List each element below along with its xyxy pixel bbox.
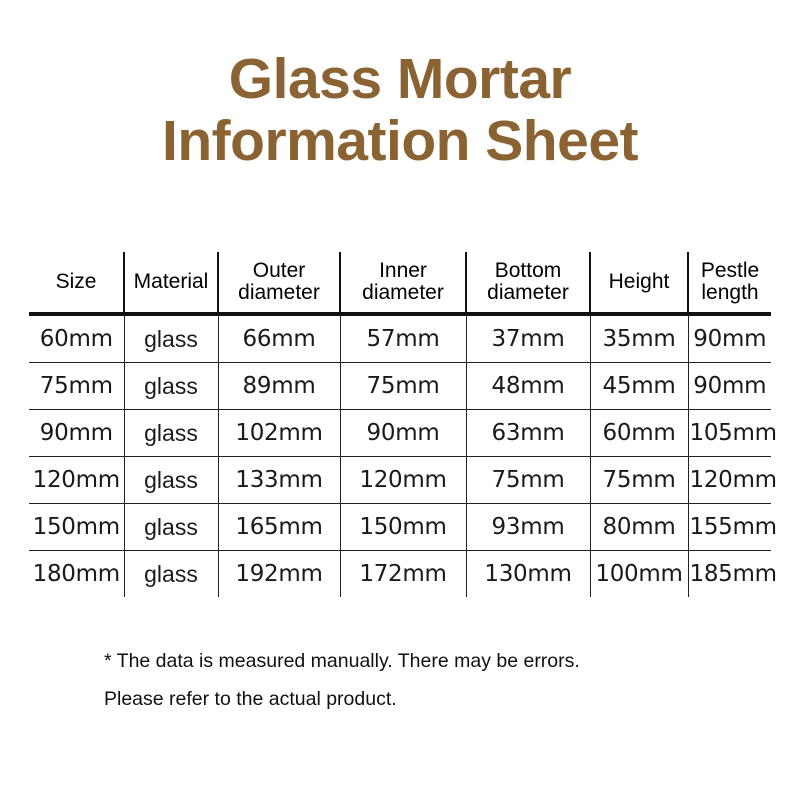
column-header-inner-diameter-line2: diameter	[343, 282, 463, 304]
cell-size: 75mm	[29, 363, 124, 410]
column-header-bottom-diameter-line1: Bottom	[469, 260, 587, 282]
column-header-outer-diameter: Outer diameter	[218, 252, 340, 314]
cell-height: 75mm	[590, 457, 688, 504]
column-header-outer-diameter-line1: Outer	[221, 260, 337, 282]
cell-height: 100mm	[590, 551, 688, 598]
column-header-inner-diameter: Inner diameter	[340, 252, 466, 314]
table-header-row: Size Material Outer diameter Inner diame…	[29, 252, 771, 314]
cell-outer: 133mm	[218, 457, 340, 504]
cell-bottom: 93mm	[466, 504, 590, 551]
cell-height: 60mm	[590, 410, 688, 457]
cell-size: 180mm	[29, 551, 124, 598]
table-header: Size Material Outer diameter Inner diame…	[29, 252, 771, 314]
cell-size: 60mm	[29, 314, 124, 363]
cell-outer: 66mm	[218, 314, 340, 363]
specification-table-container: Size Material Outer diameter Inner diame…	[29, 252, 771, 597]
column-header-pestle-length-line1: Pestle	[691, 260, 769, 282]
cell-material: glass	[124, 457, 218, 504]
table-row: 150mm glass 165mm 150mm 93mm 80mm 155mm	[29, 504, 771, 551]
column-header-height-line1: Height	[593, 271, 685, 293]
cell-height: 35mm	[590, 314, 688, 363]
column-header-pestle-length: Pestle length	[688, 252, 771, 314]
table-row: 60mm glass 66mm 57mm 37mm 35mm 90mm	[29, 314, 771, 363]
cell-bottom: 48mm	[466, 363, 590, 410]
page-title: Glass Mortar Information Sheet	[0, 48, 800, 172]
column-header-inner-diameter-line1: Inner	[343, 260, 463, 282]
cell-pestle: 90mm	[688, 314, 771, 363]
cell-bottom: 75mm	[466, 457, 590, 504]
cell-pestle: 90mm	[688, 363, 771, 410]
specification-table: Size Material Outer diameter Inner diame…	[29, 252, 771, 597]
cell-size: 120mm	[29, 457, 124, 504]
cell-height: 80mm	[590, 504, 688, 551]
column-header-height: Height	[590, 252, 688, 314]
cell-bottom: 63mm	[466, 410, 590, 457]
cell-material: glass	[124, 363, 218, 410]
cell-inner: 57mm	[340, 314, 466, 363]
cell-pestle: 155mm	[688, 504, 771, 551]
product-info-sheet: Glass Mortar Information Sheet Size	[0, 0, 800, 800]
cell-outer: 165mm	[218, 504, 340, 551]
column-header-material-line1: Material	[127, 271, 215, 293]
table-row: 90mm glass 102mm 90mm 63mm 60mm 105mm	[29, 410, 771, 457]
cell-outer: 102mm	[218, 410, 340, 457]
column-header-material: Material	[124, 252, 218, 314]
table-row: 75mm glass 89mm 75mm 48mm 45mm 90mm	[29, 363, 771, 410]
table-row: 120mm glass 133mm 120mm 75mm 75mm 120mm	[29, 457, 771, 504]
cell-bottom: 37mm	[466, 314, 590, 363]
page-title-line-2: Information Sheet	[0, 110, 800, 172]
column-header-bottom-diameter: Bottom diameter	[466, 252, 590, 314]
table-body: 60mm glass 66mm 57mm 37mm 35mm 90mm 75mm…	[29, 314, 771, 597]
column-header-size: Size	[29, 252, 124, 314]
cell-pestle: 120mm	[688, 457, 771, 504]
column-header-bottom-diameter-line2: diameter	[469, 282, 587, 304]
cell-inner: 90mm	[340, 410, 466, 457]
cell-size: 150mm	[29, 504, 124, 551]
column-header-outer-diameter-line2: diameter	[221, 282, 337, 304]
cell-outer: 192mm	[218, 551, 340, 598]
cell-pestle: 185mm	[688, 551, 771, 598]
cell-size: 90mm	[29, 410, 124, 457]
table-row: 180mm glass 192mm 172mm 130mm 100mm 185m…	[29, 551, 771, 598]
column-header-size-line1: Size	[31, 271, 121, 293]
page-title-line-1: Glass Mortar	[0, 48, 800, 110]
disclaimer-line-1: * The data is measured manually. There m…	[104, 642, 764, 680]
disclaimer-line-2: Please refer to the actual product.	[104, 680, 764, 718]
cell-material: glass	[124, 314, 218, 363]
disclaimer-note: * The data is measured manually. There m…	[104, 642, 764, 718]
cell-inner: 172mm	[340, 551, 466, 598]
cell-material: glass	[124, 410, 218, 457]
cell-bottom: 130mm	[466, 551, 590, 598]
cell-inner: 120mm	[340, 457, 466, 504]
cell-inner: 75mm	[340, 363, 466, 410]
cell-material: glass	[124, 551, 218, 598]
cell-pestle: 105mm	[688, 410, 771, 457]
cell-height: 45mm	[590, 363, 688, 410]
cell-outer: 89mm	[218, 363, 340, 410]
cell-inner: 150mm	[340, 504, 466, 551]
column-header-pestle-length-line2: length	[691, 282, 769, 304]
cell-material: glass	[124, 504, 218, 551]
